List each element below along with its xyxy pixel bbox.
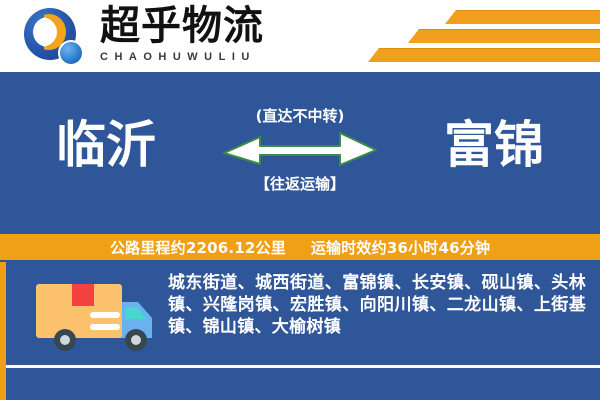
route-section: 临沂 (直达不中转) 【往返运输】 富锦 — [0, 72, 600, 232]
info-bar-text-group: 公路里程约2206.12公里 运输时效约36小时46分钟 — [110, 237, 490, 258]
stripe-3 — [368, 48, 600, 62]
service-area-list: 城东街道、城西街道、富锦镇、长安镇、砚山镇、头林镇、兴隆岗镇、宏胜镇、向阳川镇、… — [168, 272, 586, 338]
stripe-1 — [445, 10, 600, 24]
double-headed-arrow-icon — [220, 128, 380, 168]
brand-name-cn: 超乎物流 — [100, 4, 300, 48]
stripe-2 — [408, 29, 600, 43]
route-note-bottom: 【往返运输】 — [210, 174, 390, 194]
brand-name-en: CHAOHUWULIU — [100, 50, 300, 64]
route-note-top: (直达不中转) — [210, 106, 390, 126]
route-arrow-block: (直达不中转) 【往返运输】 — [210, 106, 390, 194]
company-logo-icon — [22, 6, 88, 68]
delivery-truck-icon — [28, 274, 170, 354]
left-orange-edge — [0, 262, 6, 400]
banner-header: 超乎物流 CHAOHUWULIU — [0, 0, 600, 72]
destination-city-label: 富锦 — [444, 116, 544, 174]
duration-label: 运输时效约36小时46分钟 — [311, 239, 490, 257]
origin-city-label: 临沂 — [56, 116, 156, 174]
logo-accent-dot-icon — [58, 40, 84, 66]
header-stripes-decoration — [350, 10, 600, 66]
route-info-bar: 公路里程约2206.12公里 运输时效约36小时46分钟 — [0, 232, 600, 262]
distance-label: 公路里程约2206.12公里 — [110, 239, 286, 257]
brand-block: 超乎物流 CHAOHUWULIU — [100, 4, 300, 64]
service-area-section: 城东街道、城西街道、富锦镇、长安镇、砚山镇、头林镇、兴隆岗镇、宏胜镇、向阳川镇、… — [0, 262, 600, 400]
logistics-route-banner: 超乎物流 CHAOHUWULIU 临沂 (直达不中转) 【往返运输】 富锦 公路… — [0, 0, 600, 400]
bottom-divider — [6, 365, 600, 368]
